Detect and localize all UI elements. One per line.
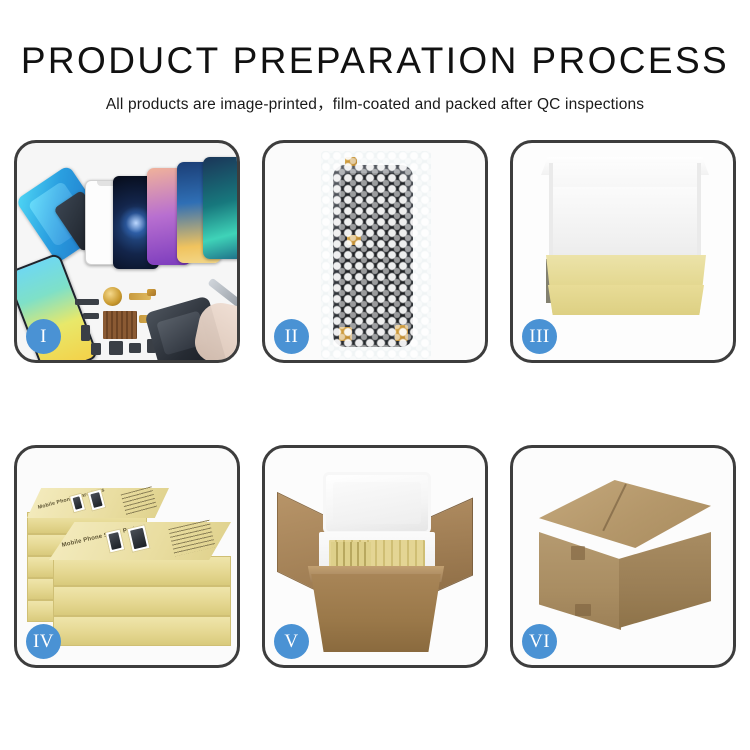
foam-sheet-white xyxy=(553,187,697,255)
page-title: PRODUCT PREPARATION PROCESS xyxy=(0,42,750,81)
product-preparation-infographic: PRODUCT PREPARATION PROCESS All products… xyxy=(0,0,750,750)
carton-top-face xyxy=(539,480,711,548)
process-step-grid: I II xyxy=(14,140,736,668)
process-step-2: II xyxy=(262,140,488,363)
logic-board xyxy=(103,311,137,339)
process-step-5: V xyxy=(262,445,488,668)
step-badge-2: II xyxy=(274,319,309,354)
step-badge-3: III xyxy=(522,319,557,354)
step-badge-4: IV xyxy=(26,624,61,659)
small-part-button xyxy=(91,343,101,355)
small-part-module xyxy=(129,343,141,353)
box-tray-front-face xyxy=(548,285,704,315)
page-subtitle: All products are image-printed，film-coat… xyxy=(0,92,750,114)
small-part-bar xyxy=(75,299,99,305)
gold-chip-1 xyxy=(147,289,156,296)
speaker-coil-part xyxy=(103,287,122,306)
step-badge-6: VI xyxy=(522,624,557,659)
carton-tape-patch-top xyxy=(571,546,585,560)
bubble-texture-layer-2 xyxy=(321,151,431,359)
small-part-bracket xyxy=(81,325,90,341)
process-step-6: VI xyxy=(510,445,736,668)
carton-body xyxy=(307,574,445,652)
step-badge-1: I xyxy=(26,319,61,354)
bubble-wrap-bag xyxy=(321,151,431,359)
process-step-3: III xyxy=(510,140,736,363)
stacked-box-r4 xyxy=(53,556,231,586)
header: PRODUCT PREPARATION PROCESS All products… xyxy=(0,0,750,114)
process-step-1: I xyxy=(14,140,240,363)
step-badge-5: V xyxy=(274,624,309,659)
phone-display-teal xyxy=(203,157,237,259)
styrofoam-lid xyxy=(323,472,431,534)
process-step-4: Mobile Phone Spare Parts Mobile Phone Sp… xyxy=(14,445,240,668)
stacked-box-r2 xyxy=(53,616,231,646)
small-part-camera xyxy=(109,341,123,355)
small-part-connector xyxy=(83,313,99,319)
stacked-box-r3 xyxy=(53,586,231,616)
carton-tape-patch-bottom xyxy=(575,604,591,616)
